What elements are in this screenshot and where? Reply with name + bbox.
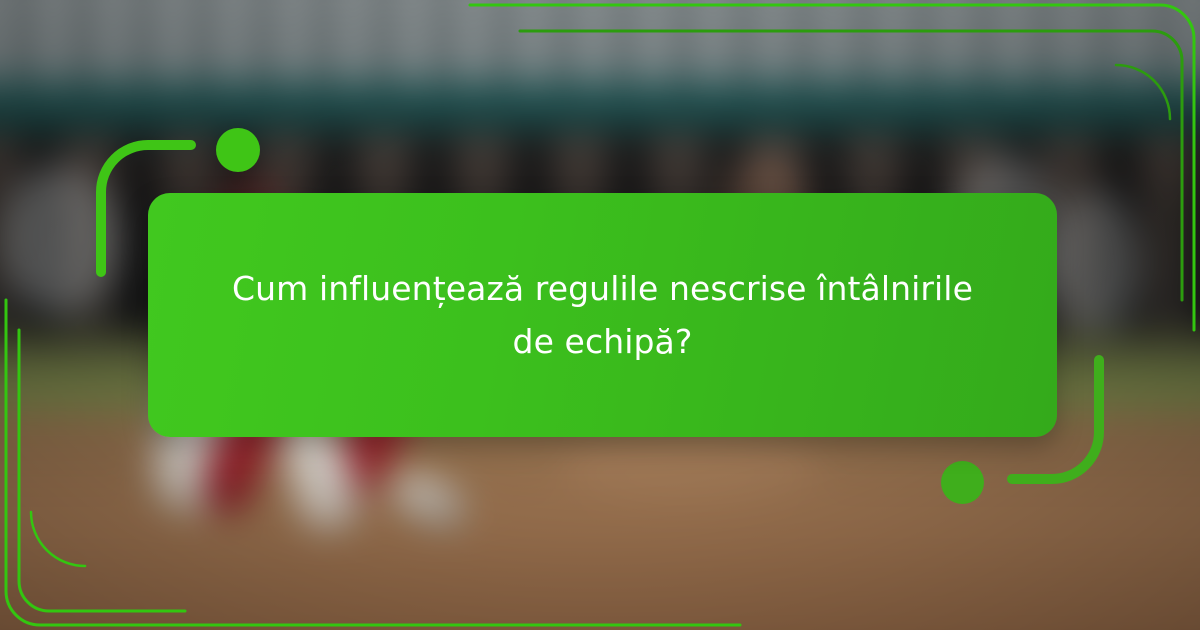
accent-dot-top-left-icon — [216, 128, 260, 172]
question-card-graphic: Cum influențează regulile nescrise întâl… — [0, 0, 1200, 630]
question-text: Cum influențează regulile nescrise întâl… — [212, 262, 993, 369]
question-card: Cum influențează regulile nescrise întâl… — [148, 193, 1057, 437]
accent-dot-bottom-right-icon — [941, 461, 984, 504]
